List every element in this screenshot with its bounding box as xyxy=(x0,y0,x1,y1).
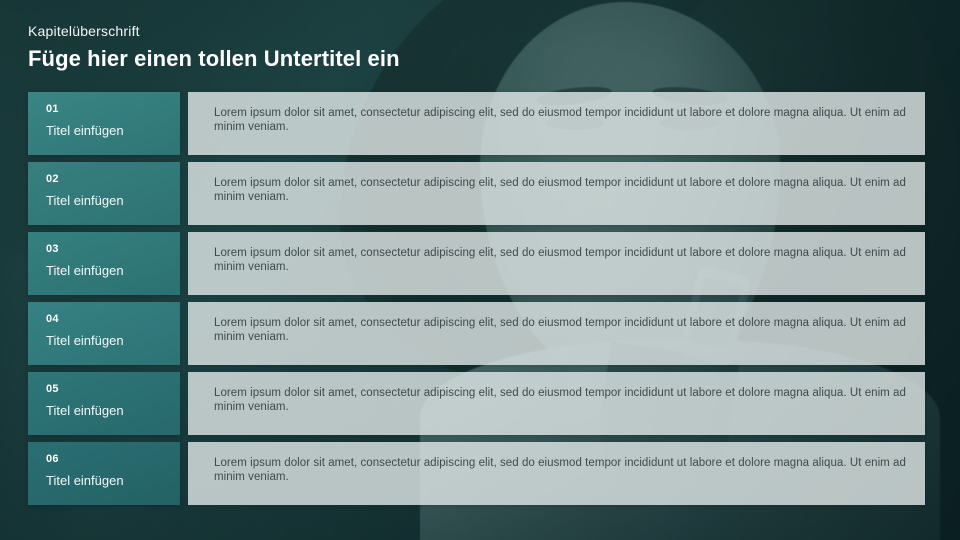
row-number: 03 xyxy=(46,242,180,256)
table-row[interactable]: 01Titel einfügenLorem ipsum dolor sit am… xyxy=(28,92,925,155)
row-description-panel[interactable]: Lorem ipsum dolor sit amet, consectetur … xyxy=(188,302,925,365)
row-number-card[interactable]: 03Titel einfügen xyxy=(28,232,180,295)
row-title: Titel einfügen xyxy=(46,403,180,419)
row-title: Titel einfügen xyxy=(46,333,180,349)
row-description-panel[interactable]: Lorem ipsum dolor sit amet, consectetur … xyxy=(188,232,925,295)
slide-canvas: Kapitelüberschrift Füge hier einen tolle… xyxy=(0,0,960,540)
row-number-card[interactable]: 04Titel einfügen xyxy=(28,302,180,365)
row-description-panel[interactable]: Lorem ipsum dolor sit amet, consectetur … xyxy=(188,162,925,225)
slide-header: Kapitelüberschrift Füge hier einen tolle… xyxy=(28,22,400,72)
row-number: 02 xyxy=(46,172,180,186)
row-description-text: Lorem ipsum dolor sit amet, consectetur … xyxy=(214,246,909,274)
table-row[interactable]: 03Titel einfügenLorem ipsum dolor sit am… xyxy=(28,232,925,295)
row-number-card[interactable]: 06Titel einfügen xyxy=(28,442,180,505)
table-row[interactable]: 05Titel einfügenLorem ipsum dolor sit am… xyxy=(28,372,925,435)
row-description-text: Lorem ipsum dolor sit amet, consectetur … xyxy=(214,456,909,484)
row-title: Titel einfügen xyxy=(46,473,180,489)
row-title: Titel einfügen xyxy=(46,123,180,139)
row-description-text: Lorem ipsum dolor sit amet, consectetur … xyxy=(214,176,909,204)
row-number: 01 xyxy=(46,102,180,116)
row-number-card[interactable]: 05Titel einfügen xyxy=(28,372,180,435)
row-description-panel[interactable]: Lorem ipsum dolor sit amet, consectetur … xyxy=(188,372,925,435)
row-description-text: Lorem ipsum dolor sit amet, consectetur … xyxy=(214,106,909,134)
row-title: Titel einfügen xyxy=(46,193,180,209)
row-description-text: Lorem ipsum dolor sit amet, consectetur … xyxy=(214,386,909,414)
row-title: Titel einfügen xyxy=(46,263,180,279)
row-number: 06 xyxy=(46,452,180,466)
chapter-eyebrow: Kapitelüberschrift xyxy=(28,22,400,40)
content-rows-list: 01Titel einfügenLorem ipsum dolor sit am… xyxy=(28,92,925,505)
row-number: 05 xyxy=(46,382,180,396)
row-description-panel[interactable]: Lorem ipsum dolor sit amet, consectetur … xyxy=(188,442,925,505)
row-description-panel[interactable]: Lorem ipsum dolor sit amet, consectetur … xyxy=(188,92,925,155)
row-number-card[interactable]: 01Titel einfügen xyxy=(28,92,180,155)
row-description-text: Lorem ipsum dolor sit amet, consectetur … xyxy=(214,316,909,344)
table-row[interactable]: 04Titel einfügenLorem ipsum dolor sit am… xyxy=(28,302,925,365)
page-title: Füge hier einen tollen Untertitel ein xyxy=(28,46,400,72)
row-number: 04 xyxy=(46,312,180,326)
table-row[interactable]: 02Titel einfügenLorem ipsum dolor sit am… xyxy=(28,162,925,225)
row-number-card[interactable]: 02Titel einfügen xyxy=(28,162,180,225)
table-row[interactable]: 06Titel einfügenLorem ipsum dolor sit am… xyxy=(28,442,925,505)
